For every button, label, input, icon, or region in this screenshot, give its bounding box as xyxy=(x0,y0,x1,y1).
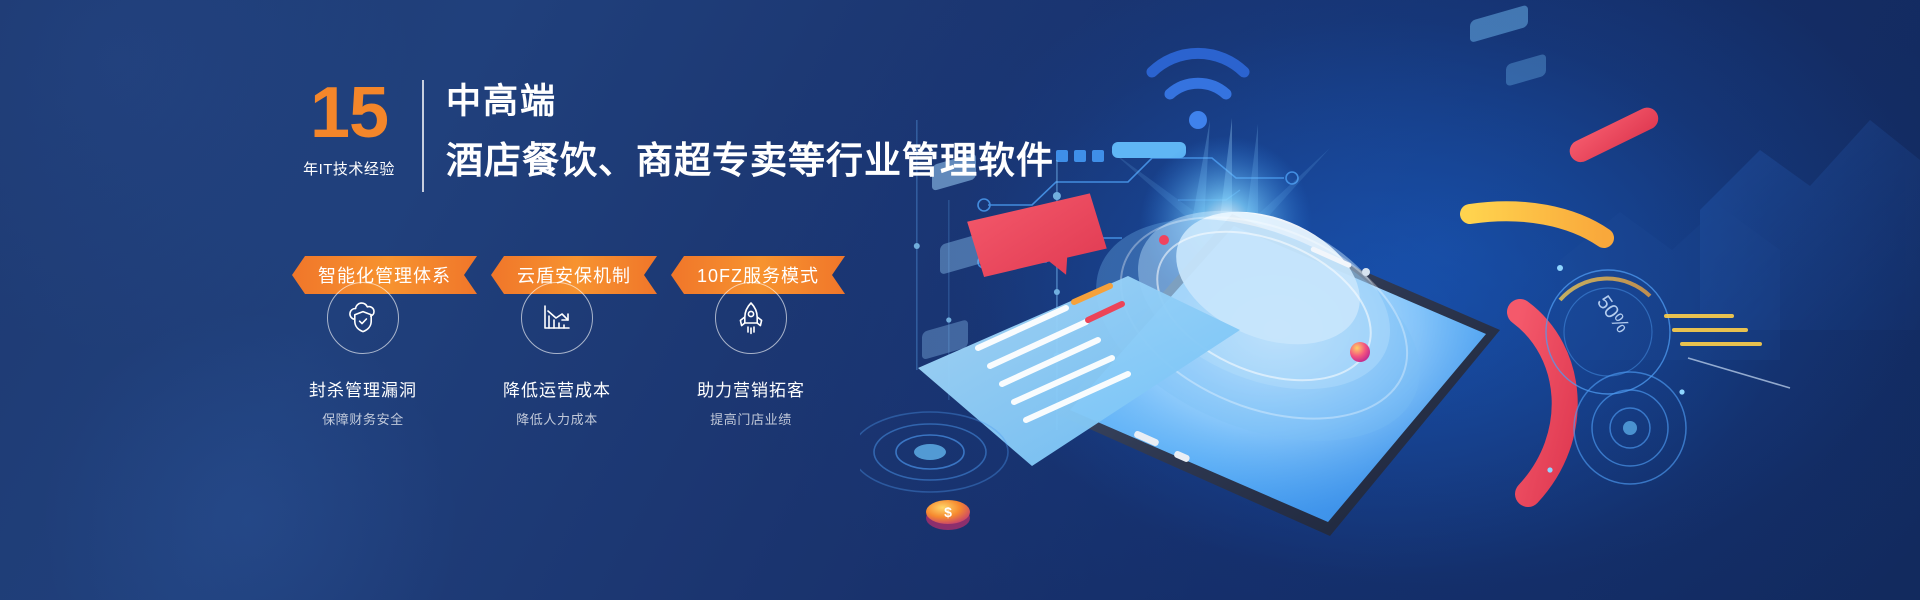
feature-title-1: 封杀管理漏洞 xyxy=(309,376,417,401)
experience-badge: 15 年IT技术经验 xyxy=(290,78,408,179)
headline-titles: 中高端 酒店餐饮、商超专卖等行业管理软件 xyxy=(446,78,1054,184)
left-content: 15 年IT技术经验 中高端 酒店餐饮、商超专卖等行业管理软件 智能化管理体系 … xyxy=(0,0,1060,600)
percent-badge-rings xyxy=(1546,270,1670,394)
right-dots xyxy=(1547,265,1684,473)
yellow-arc-right xyxy=(1470,211,1604,238)
headline-title-primary: 中高端 xyxy=(446,80,1054,124)
red-bar xyxy=(1566,104,1662,166)
cloud-shield-icon xyxy=(327,282,399,354)
declining-bar-chart-icon xyxy=(521,282,593,354)
experience-years-number: 15 xyxy=(310,80,388,146)
percent-badge-label: 50% xyxy=(1592,292,1633,337)
feature-subtitle-1: 保障财务安全 xyxy=(322,409,404,428)
feature-item-2[interactable]: 降低运营成本 降低人力成本 xyxy=(482,282,632,428)
feature-item-1[interactable]: 封杀管理漏洞 保障财务安全 xyxy=(288,282,438,428)
feature-list: 封杀管理漏洞 保障财务安全 降低运营成本 降低人力成本 xyxy=(288,282,826,428)
background-silhouettes xyxy=(1560,120,1920,360)
rocket-icon xyxy=(715,282,787,354)
headline-title-secondary: 酒店餐饮、商超专卖等行业管理软件 xyxy=(446,138,1054,184)
red-arc xyxy=(1520,312,1565,494)
right-edge-chips xyxy=(1666,0,1790,388)
experience-years-label: 年IT技术经验 xyxy=(303,158,395,179)
glow-beams xyxy=(1110,118,1330,228)
wifi-signal-icon xyxy=(1152,53,1244,129)
screen-red-dot xyxy=(1159,235,1169,245)
promo-banner: $ 50% xyxy=(0,0,1920,600)
headline-block: 15 年IT技术经验 中高端 酒店餐饮、商超专卖等行业管理软件 xyxy=(290,78,1054,192)
feature-item-3[interactable]: 助力营销拓客 提高门店业绩 xyxy=(676,282,826,428)
feature-title-2: 降低运营成本 xyxy=(503,376,611,401)
smartphone-device xyxy=(1056,175,1500,536)
feature-subtitle-2: 降低人力成本 xyxy=(516,409,598,428)
yellow-arc xyxy=(1160,256,1312,330)
circuit-blocks xyxy=(1056,142,1186,162)
phone-top-glow xyxy=(1140,136,1312,308)
radar-rings-right xyxy=(1574,372,1686,484)
headline-divider xyxy=(422,80,424,192)
screen-dot xyxy=(1350,342,1370,362)
feature-title-3: 助力营销拓客 xyxy=(697,376,805,401)
feature-subtitle-3: 提高门店业绩 xyxy=(710,409,792,428)
